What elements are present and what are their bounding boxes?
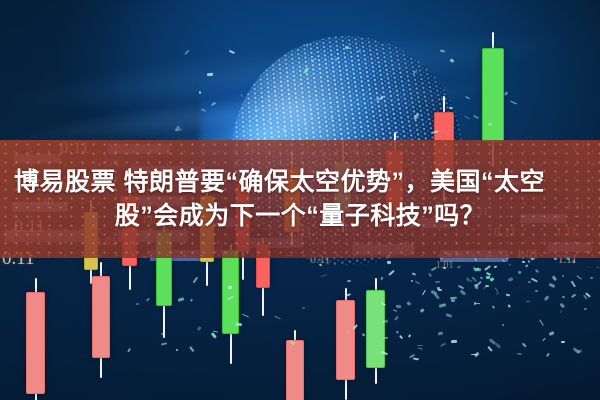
particle-tick	[451, 299, 455, 302]
particle-tick	[319, 263, 323, 267]
particle-tick	[161, 342, 167, 345]
headline-line-2: 股”会成为下一个“量子科技”吗？	[115, 201, 486, 232]
headline-line-1: 博易股票 特朗普要“确保太空优势”，美国“太空	[10, 167, 545, 198]
particle-tick	[526, 301, 530, 303]
particle-tick	[136, 303, 139, 305]
particle-tick	[282, 128, 287, 134]
particle-tick	[571, 294, 576, 298]
particle-tick	[190, 346, 195, 351]
particle-tick	[242, 314, 248, 318]
particle-tick	[413, 357, 420, 359]
particle-tick	[192, 277, 198, 284]
particle-tick	[201, 108, 206, 111]
particle-tick	[304, 121, 307, 124]
particle-tick	[480, 276, 483, 279]
particle-tick	[434, 293, 440, 299]
particle-tick	[362, 333, 366, 337]
particle-tick	[381, 351, 388, 355]
particle-tick	[358, 49, 362, 53]
particle-tick	[449, 107, 453, 110]
particle-tick	[508, 304, 511, 307]
particle-tick	[127, 348, 131, 353]
particle-tick	[487, 346, 493, 352]
particle-tick	[394, 316, 399, 322]
particle-tick	[146, 297, 150, 301]
particle-tick	[494, 265, 497, 268]
particle-tick	[178, 297, 185, 301]
particle-tick	[396, 305, 401, 308]
particle-tick	[531, 278, 538, 283]
particle-tick	[522, 342, 526, 346]
particle-tick	[489, 278, 494, 282]
particle-tick	[445, 313, 451, 317]
particle-tick	[539, 319, 544, 325]
particle-tick	[460, 289, 466, 295]
particle-tick	[534, 269, 538, 273]
particle-tick	[176, 349, 178, 351]
particle-tick	[517, 353, 522, 355]
particle-tick	[251, 117, 256, 120]
particle-tick	[398, 335, 402, 339]
particle-tick	[347, 280, 351, 282]
particle-tick	[544, 296, 549, 301]
particle-tick	[313, 59, 316, 61]
particle-tick	[502, 259, 505, 261]
particle-tick	[418, 348, 423, 351]
particle-tick	[330, 117, 333, 120]
particle-tick	[435, 280, 440, 282]
particle-tick	[473, 114, 479, 118]
particle-tick	[510, 100, 517, 104]
particle-tick	[396, 330, 399, 333]
particle-tick	[431, 267, 437, 272]
particle-tick	[576, 275, 582, 280]
particle-tick	[505, 294, 509, 297]
particle-tick	[560, 310, 563, 313]
particle-tick	[522, 261, 525, 263]
particle-tick	[546, 353, 550, 357]
particle-tick	[584, 307, 588, 310]
particle-tick	[197, 326, 201, 331]
particle-tick	[303, 67, 309, 74]
particle-tick	[572, 260, 576, 264]
particle-tick	[254, 108, 259, 112]
particle-tick	[381, 302, 386, 306]
particle-tick	[408, 334, 411, 338]
particle-tick	[386, 261, 391, 265]
particle-tick	[449, 58, 453, 62]
particle-tick	[388, 270, 394, 276]
particle-tick	[184, 49, 190, 55]
particle-tick	[412, 272, 416, 275]
particle-tick	[464, 115, 470, 119]
particle-tick	[475, 258, 478, 261]
particle-tick	[484, 265, 491, 270]
particle-tick	[419, 308, 424, 312]
particle-tick	[548, 283, 555, 288]
particle-tick	[411, 280, 414, 283]
particle-tick	[344, 46, 348, 49]
particle-tick	[528, 260, 530, 263]
particle-tick	[415, 281, 420, 284]
particle-tick	[561, 341, 565, 343]
particle-tick	[502, 323, 505, 326]
particle-tick	[509, 264, 511, 267]
particle-tick	[229, 50, 235, 54]
particle-tick	[380, 96, 383, 99]
particle-tick	[552, 276, 557, 282]
particle-tick	[161, 332, 164, 335]
particle-tick	[549, 331, 555, 335]
particle-tick	[211, 102, 216, 106]
particle-tick	[297, 83, 303, 86]
particle-tick	[439, 303, 446, 307]
particle-tick	[542, 337, 545, 341]
particle-tick	[577, 349, 582, 353]
particle-tick	[380, 276, 383, 279]
particle-tick	[475, 281, 481, 287]
news-thumbnail-image: 0.110.110.111.011.010.111.011.010.111.01…	[0, 0, 600, 400]
particle-tick	[321, 274, 327, 277]
particle-tick	[301, 306, 304, 308]
particle-tick	[488, 122, 493, 126]
particle-tick	[496, 292, 498, 295]
particle-tick	[525, 264, 528, 267]
particle-tick	[392, 310, 396, 313]
particle-tick	[207, 73, 213, 76]
particle-tick	[438, 331, 443, 335]
particle-tick	[345, 293, 352, 297]
particle-tick	[428, 273, 432, 278]
particle-tick	[562, 275, 565, 278]
particle-tick	[474, 302, 476, 305]
particle-tick	[474, 351, 480, 357]
particle-tick	[494, 343, 500, 349]
particle-tick	[443, 267, 447, 270]
particle-tick	[422, 290, 426, 296]
particle-tick	[199, 90, 202, 93]
particle-tick	[571, 280, 576, 287]
particle-tick	[517, 270, 521, 274]
particle-tick	[175, 128, 182, 131]
particle-tick	[440, 49, 445, 52]
particle-tick	[190, 298, 194, 302]
particle-tick	[240, 94, 243, 97]
particle-tick	[383, 337, 388, 339]
particle-tick	[236, 323, 243, 326]
particle-tick	[382, 320, 389, 324]
particle-tick	[306, 44, 309, 47]
particle-tick	[451, 340, 457, 343]
particle-tick	[440, 342, 446, 346]
particle-tick	[465, 96, 470, 99]
particle-tick	[414, 113, 420, 120]
particle-tick	[226, 295, 233, 300]
particle-tick	[267, 119, 272, 123]
particle-tick	[406, 302, 411, 306]
particle-tick	[589, 276, 593, 278]
headline-text-block: 博易股票 特朗普要“确保太空优势”，美国“太空 股”会成为下一个“量子科技”吗？	[0, 140, 600, 258]
particle-tick	[495, 287, 498, 291]
particle-tick	[211, 333, 217, 339]
particle-tick	[346, 331, 350, 334]
particle-tick	[289, 340, 294, 345]
particle-tick	[508, 277, 514, 281]
particle-tick	[457, 266, 461, 270]
particle-tick	[483, 286, 487, 290]
particle-tick	[535, 290, 538, 292]
particle-tick	[309, 115, 315, 119]
particle-tick	[432, 130, 439, 134]
particle-tick	[528, 281, 531, 283]
particle-tick	[491, 306, 494, 309]
particle-tick	[274, 316, 281, 320]
particle-tick	[441, 98, 443, 100]
particle-tick	[353, 323, 358, 329]
particle-tick	[334, 58, 338, 62]
particle-tick	[562, 296, 565, 298]
particle-tick	[228, 286, 233, 290]
particle-tick	[560, 303, 565, 308]
particle-tick	[412, 70, 417, 75]
particle-tick	[503, 91, 508, 96]
particle-tick	[438, 288, 442, 290]
